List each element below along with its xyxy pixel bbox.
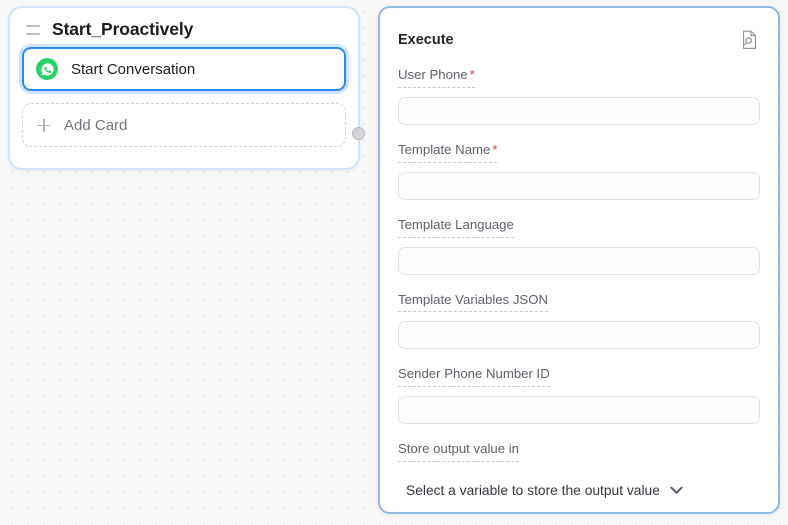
- node-header: Start_Proactively: [10, 8, 358, 45]
- label-text: Store output value in: [398, 441, 519, 456]
- template-language-input[interactable]: [398, 247, 760, 275]
- card-label: Start Conversation: [71, 61, 195, 78]
- properties-panel: Execute User Phone*: [378, 6, 780, 514]
- user-phone-input[interactable]: [398, 97, 760, 125]
- field-label-template-variables-json: Template Variables JSON: [398, 292, 548, 313]
- label-text: Template Name: [398, 142, 490, 157]
- add-card-button[interactable]: Add Card: [22, 103, 346, 147]
- template-variables-json-input[interactable]: [398, 321, 760, 349]
- field-label-store-output-value: Store output value in: [398, 441, 519, 462]
- field-template-language: Template Language: [398, 216, 760, 275]
- required-marker: *: [470, 67, 475, 82]
- required-marker: *: [492, 142, 497, 157]
- whatsapp-icon: [36, 58, 58, 80]
- add-card-label: Add Card: [64, 117, 127, 134]
- field-store-output-value: Store output value in Select a variable …: [398, 440, 760, 498]
- sender-phone-number-id-input[interactable]: [398, 396, 760, 424]
- connector-dot[interactable]: [352, 127, 365, 140]
- field-template-variables-json: Template Variables JSON: [398, 291, 760, 350]
- flow-node-start-proactively[interactable]: Start_Proactively Start Conversation Add…: [8, 6, 360, 170]
- node-title: Start_Proactively: [52, 19, 193, 39]
- template-name-input[interactable]: [398, 172, 760, 200]
- flow-canvas[interactable]: Start_Proactively Start Conversation Add…: [0, 0, 788, 525]
- field-sender-phone-number-id: Sender Phone Number ID: [398, 365, 760, 424]
- label-text: User Phone: [398, 67, 468, 82]
- chevron-down-icon: [670, 486, 683, 495]
- document-search-icon[interactable]: [740, 30, 758, 50]
- drag-handle-icon[interactable]: [26, 25, 40, 35]
- panel-title: Execute: [398, 32, 454, 48]
- select-value: Select a variable to store the output va…: [406, 483, 660, 498]
- card-start-conversation[interactable]: Start Conversation: [22, 47, 346, 91]
- field-label-sender-phone-number-id: Sender Phone Number ID: [398, 366, 550, 387]
- label-text: Sender Phone Number ID: [398, 366, 550, 381]
- field-template-name: Template Name*: [398, 141, 760, 200]
- label-text: Template Variables JSON: [398, 292, 548, 307]
- field-user-phone: User Phone*: [398, 66, 760, 125]
- cards-area: Start Conversation Add Card: [10, 45, 358, 159]
- panel-header: Execute: [380, 8, 778, 50]
- field-label-template-language: Template Language: [398, 217, 514, 238]
- label-text: Template Language: [398, 217, 514, 232]
- plus-icon: [37, 119, 50, 132]
- store-output-variable-select[interactable]: Select a variable to store the output va…: [398, 483, 760, 498]
- execute-form: User Phone* Template Name* Template Lang…: [380, 50, 778, 498]
- field-label-template-name: Template Name*: [398, 142, 497, 163]
- field-label-user-phone: User Phone*: [398, 67, 475, 88]
